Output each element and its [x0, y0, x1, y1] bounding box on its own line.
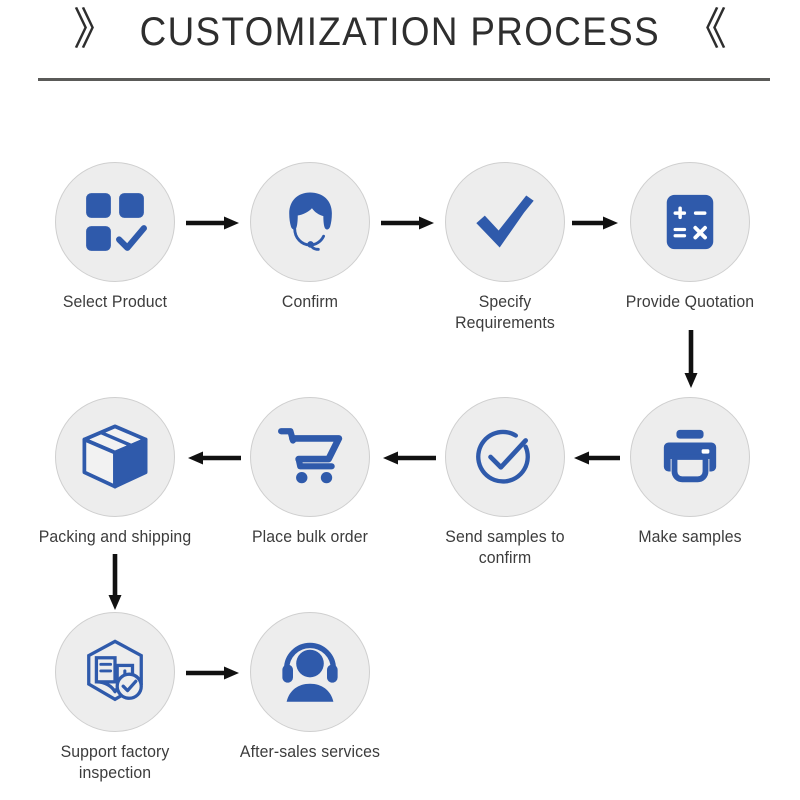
- page-title: 》CUSTOMIZATION PROCESS《: [0, 10, 800, 54]
- arrow-step2-step3: [381, 215, 436, 229]
- step-node-support-factory-inspection[interactable]: Support factory inspection: [35, 612, 195, 784]
- step-icon-circle: [630, 397, 750, 517]
- step-icon-circle: [445, 397, 565, 517]
- chevron-left-icon: 》: [73, 8, 117, 52]
- process-flow: Select Product Confirm Specify Requireme…: [0, 92, 800, 800]
- check-circle-icon: [472, 424, 538, 490]
- step-node-provide-quotation[interactable]: Provide Quotation: [610, 162, 770, 313]
- step-node-select-product[interactable]: Select Product: [35, 162, 195, 313]
- shopping-cart-icon: [277, 424, 343, 490]
- arrow-step8-step9: [107, 554, 121, 612]
- step-icon-circle: [630, 162, 750, 282]
- calculator-icon: [659, 191, 721, 253]
- step-label: Provide Quotation: [613, 292, 767, 313]
- step-node-send-samples-to-confirm[interactable]: Send samples to confirm: [425, 397, 585, 569]
- step-node-place-bulk-order[interactable]: Place bulk order: [230, 397, 390, 548]
- step-label: Select Product: [38, 292, 192, 313]
- step-icon-circle: [250, 612, 370, 732]
- arrow-step3-step4: [572, 215, 620, 229]
- step-icon-circle: [55, 397, 175, 517]
- headset-agent-icon: [275, 187, 345, 257]
- step-label: Support factory inspection: [38, 742, 192, 784]
- step-node-make-samples[interactable]: Make samples: [610, 397, 770, 548]
- arrow-step9-step10: [186, 665, 241, 679]
- arrow-step1-step2: [186, 215, 241, 229]
- checkmark-icon: [471, 188, 539, 256]
- step-icon-circle: [250, 397, 370, 517]
- page-header: 》CUSTOMIZATION PROCESS《: [0, 0, 800, 92]
- grid-check-icon: [82, 189, 148, 255]
- arrow-step6-step7: [381, 450, 436, 464]
- step-icon-circle: [55, 612, 175, 732]
- printer-icon: [659, 426, 721, 488]
- step-node-after-sales-services[interactable]: After-sales services: [230, 612, 390, 763]
- arrow-step4-step5: [683, 330, 697, 390]
- step-label: Specify Requirements: [428, 292, 582, 334]
- step-label: Place bulk order: [233, 527, 387, 548]
- step-label: Confirm: [233, 292, 387, 313]
- step-label: Make samples: [613, 527, 767, 548]
- step-node-specify-requirements[interactable]: Specify Requirements: [425, 162, 585, 334]
- package-box-icon: [80, 422, 150, 492]
- factory-shield-icon: [80, 637, 150, 707]
- arrow-step7-step8: [186, 450, 241, 464]
- page-title-text: CUSTOMIZATION PROCESS: [140, 12, 660, 52]
- step-node-packing-and-shipping[interactable]: Packing and shipping: [35, 397, 195, 548]
- step-label: After-sales services: [233, 742, 387, 763]
- step-label: Packing and shipping: [38, 527, 192, 548]
- arrow-step5-step6: [572, 450, 620, 464]
- step-icon-circle: [55, 162, 175, 282]
- step-icon-circle: [445, 162, 565, 282]
- support-person-icon: [276, 638, 344, 706]
- step-label: Send samples to confirm: [428, 527, 582, 569]
- step-node-confirm[interactable]: Confirm: [230, 162, 390, 313]
- title-divider: [38, 78, 770, 81]
- step-icon-circle: [250, 162, 370, 282]
- chevron-right-icon: 《: [683, 8, 727, 52]
